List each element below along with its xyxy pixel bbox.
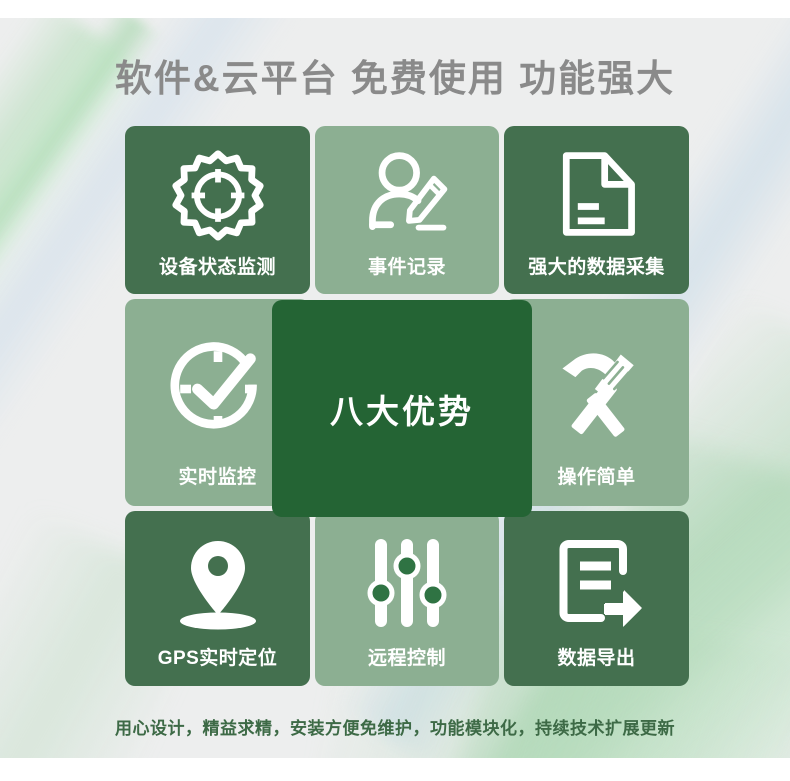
advantage-grid: 设备状态监测 事件记录 <box>125 126 689 686</box>
advantage-tile-label: 数据导出 <box>504 643 689 670</box>
footer-tagline: 用心设计，精益求精，安装方便免维护，功能模块化，持续技术扩展更新 <box>0 714 790 739</box>
advantage-tile-remote-control[interactable]: 远程控制 <box>315 511 499 686</box>
document-export-icon <box>504 533 689 633</box>
person-pencil-icon <box>315 146 499 242</box>
sliders-icon <box>315 533 499 633</box>
center-hub-label: 八大优势 <box>330 385 474 433</box>
advantage-tile-label: 事件记录 <box>315 252 499 279</box>
map-pin-icon <box>125 533 310 633</box>
center-hub-tile[interactable]: 八大优势 <box>272 300 532 517</box>
advantage-tile-event-log[interactable]: 事件记录 <box>315 126 499 294</box>
advantages-infographic: 软件&云平台 免费使用 功能强大 设备状态监测 <box>0 0 790 781</box>
advantage-tile-device-status[interactable]: 设备状态监测 <box>125 126 310 294</box>
advantage-tile-gps-location[interactable]: GPS实时定位 <box>125 511 310 686</box>
advantage-tile-data-collection[interactable]: 强大的数据采集 <box>504 126 689 294</box>
advantage-tile-label: GPS实时定位 <box>125 643 310 670</box>
advantage-tile-data-export[interactable]: 数据导出 <box>504 511 689 686</box>
advantage-tile-label: 远程控制 <box>315 643 499 670</box>
document-lines-icon <box>504 146 689 242</box>
gear-target-icon <box>125 146 310 242</box>
page-title: 软件&云平台 免费使用 功能强大 <box>0 48 790 102</box>
advantage-tile-label: 设备状态监测 <box>125 252 310 279</box>
advantage-tile-label: 强大的数据采集 <box>504 252 689 279</box>
